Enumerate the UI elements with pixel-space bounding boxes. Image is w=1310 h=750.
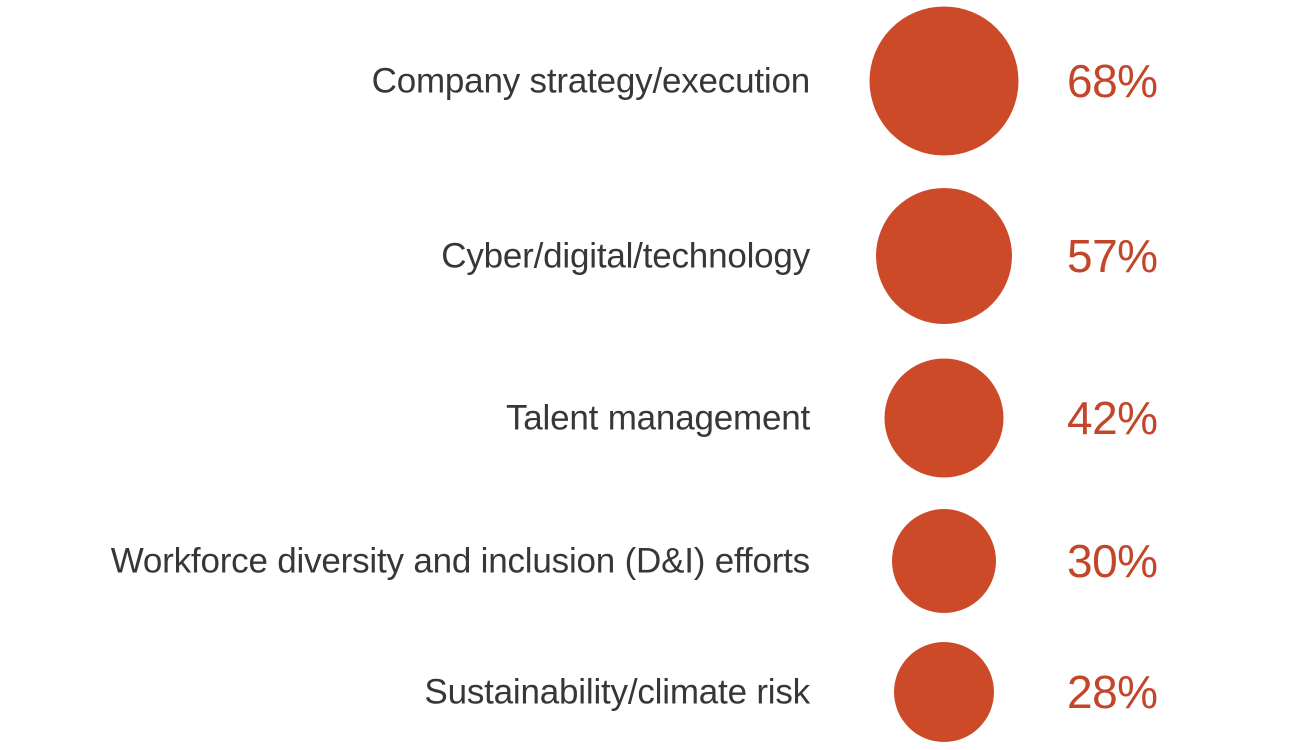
row-label-sustainability-climate-risk: Sustainability/climate risk	[424, 675, 810, 710]
row-value-company-strategy-execution: 68%	[1067, 58, 1158, 104]
row-value-cyber-digital-technology: 57%	[1067, 233, 1158, 279]
row-bubble-workforce-diversity-inclusion	[892, 509, 996, 613]
row-bubble-talent-management	[885, 359, 1004, 478]
row-value-talent-management: 42%	[1067, 395, 1158, 441]
row-value-workforce-diversity-inclusion: 30%	[1067, 538, 1158, 584]
row-label-company-strategy-execution: Company strategy/execution	[372, 64, 810, 99]
row-bubble-cyber-digital-technology	[876, 188, 1012, 324]
row-bubble-company-strategy-execution	[870, 7, 1019, 156]
row-value-sustainability-climate-risk: 28%	[1067, 669, 1158, 715]
bubble-chart: Company strategy/execution 68% Cyber/dig…	[0, 0, 1310, 750]
row-label-cyber-digital-technology: Cyber/digital/technology	[441, 239, 810, 274]
row-label-talent-management: Talent management	[506, 401, 810, 436]
row-label-workforce-diversity-inclusion: Workforce diversity and inclusion (D&I) …	[111, 544, 810, 579]
row-bubble-sustainability-climate-risk	[894, 642, 994, 742]
